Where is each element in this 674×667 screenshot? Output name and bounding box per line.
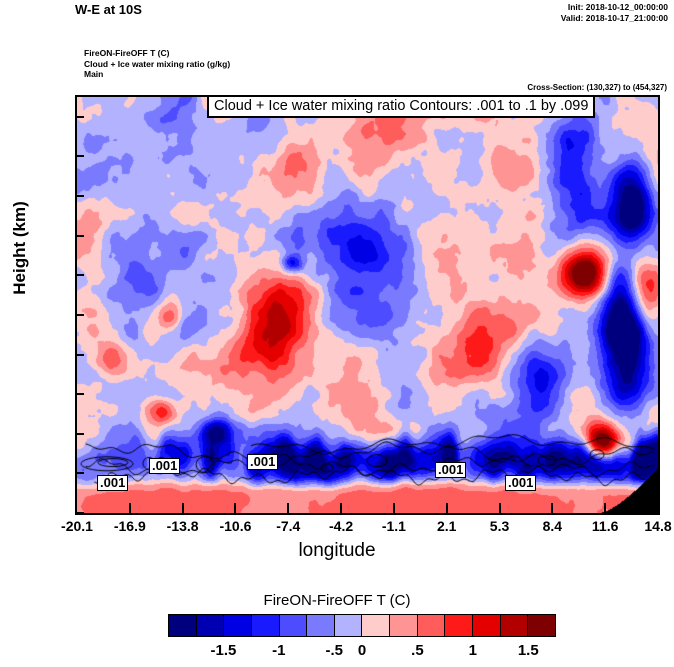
y-tick-mark (75, 512, 84, 514)
x-tick-mark (393, 503, 395, 513)
contour-value-label: .001 (505, 475, 536, 491)
y-tick-mark (75, 393, 84, 395)
x-tick-label: 11.6 (575, 518, 635, 534)
y-tick-mark (75, 116, 84, 118)
x-tick-mark (551, 503, 553, 513)
y-tick-mark (75, 472, 84, 474)
temperature-difference-field (77, 97, 658, 513)
colorbar-tick-label: 1.5 (498, 642, 558, 659)
colorbar-swatch-6 (335, 615, 363, 636)
contour-value-label: .001 (247, 454, 278, 470)
colorbar-swatch-8 (390, 615, 418, 636)
init-time-label: Init: 2018-10-12_00:00:00 (561, 2, 668, 13)
field-contour-label: Cloud + Ice water mixing ratio (g/kg) (84, 59, 230, 70)
colorbar-tick-label: .5 (387, 642, 447, 659)
colorbar-swatch-2 (224, 615, 252, 636)
x-tick-label: 5.3 (470, 518, 530, 534)
contour-value-label: .001 (435, 462, 466, 478)
field-variable-label: FireON-FireOFF T (C) (84, 48, 230, 59)
x-tick-label: 8.4 (522, 518, 582, 534)
x-tick-label: -10.6 (205, 518, 265, 534)
init-valid-block: Init: 2018-10-12_00:00:00 Valid: 2018-10… (561, 2, 668, 24)
y-axis-title: Height (km) (10, 168, 30, 328)
colorbar-swatch-12 (501, 615, 529, 636)
x-tick-mark (499, 503, 501, 513)
x-tick-label: 2.1 (417, 518, 477, 534)
colorbar-swatch-9 (418, 615, 446, 636)
x-tick-label: 14.8 (628, 518, 674, 534)
x-tick-label: -16.9 (100, 518, 160, 534)
field-info-block: FireON-FireOFF T (C) Cloud + Ice water m… (84, 48, 230, 80)
x-tick-mark (287, 503, 289, 513)
cross-section-plot: Cloud + Ice water mixing ratio Contours:… (75, 95, 660, 515)
y-tick-mark (75, 195, 84, 197)
x-tick-mark (340, 503, 342, 513)
y-tick-mark (75, 235, 84, 237)
x-tick-mark (182, 503, 184, 513)
y-tick-mark (75, 274, 84, 276)
x-tick-mark (446, 503, 448, 513)
valid-time-label: Valid: 2018-10-17_21:00:00 (561, 13, 668, 24)
x-tick-label: -7.4 (258, 518, 318, 534)
colorbar-swatch-13 (528, 615, 555, 636)
contour-title-box: Cloud + Ice water mixing ratio Contours:… (207, 95, 595, 118)
colorbar-swatch-4 (280, 615, 308, 636)
x-tick-label: -1.1 (364, 518, 424, 534)
colorbar-swatch-7 (362, 615, 390, 636)
y-tick-mark (75, 314, 84, 316)
colorbar-tick-label: 0 (332, 642, 392, 659)
colorbar-swatch-5 (307, 615, 335, 636)
colorbar-tick-label: -1 (249, 642, 309, 659)
colorbar-title: FireON-FireOFF T (C) (0, 592, 674, 609)
colorbar-swatch-0 (169, 615, 197, 636)
colorbar-tick-label: -1.5 (193, 642, 253, 659)
y-tick-mark (75, 354, 84, 356)
colorbar-swatch-1 (197, 615, 225, 636)
colorbar-swatch-10 (445, 615, 473, 636)
page-title: W-E at 10S (75, 2, 142, 17)
x-axis-title: longitude (0, 540, 674, 562)
y-tick-mark (75, 155, 84, 157)
colorbar-tick-label: 1 (443, 642, 503, 659)
colorbar-swatch-3 (252, 615, 280, 636)
y-tick-mark (75, 433, 84, 435)
field-domain-label: Main (84, 69, 230, 80)
x-tick-mark (129, 503, 131, 513)
x-tick-label: -4.2 (311, 518, 371, 534)
x-tick-label: -13.8 (153, 518, 213, 534)
colorbar (168, 614, 556, 637)
colorbar-swatch-11 (473, 615, 501, 636)
contour-value-label: .001 (97, 475, 128, 491)
x-tick-label: -20.1 (47, 518, 107, 534)
x-tick-mark (604, 503, 606, 513)
contour-value-label: .001 (149, 458, 180, 474)
x-tick-mark (234, 503, 236, 513)
cross-section-label: Cross-Section: (130,327) to (454,327) (527, 83, 667, 92)
